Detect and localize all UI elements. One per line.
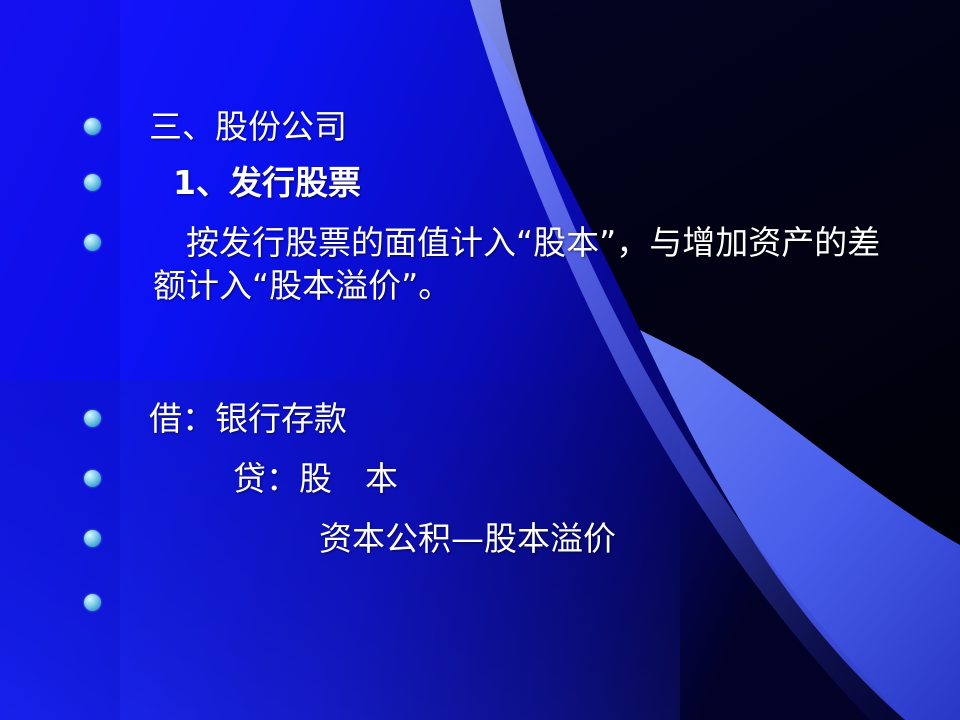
bullet-text-journal-credit-surplus: 资本公积—股本溢价	[319, 518, 616, 561]
bullet-dot-icon	[84, 174, 101, 191]
list-item: 贷：股 本	[84, 458, 904, 501]
bullet-dot-icon	[84, 234, 101, 251]
bullet-text-journal-debit: 借：银行存款	[149, 398, 347, 441]
bullet-text-item-one: 1、发行股票	[173, 162, 361, 205]
bullet-text-explanation: 按发行股票的面值计入“股本”，与增加资产的差额计入“股本溢价”。	[153, 222, 883, 308]
list-item	[84, 582, 904, 611]
list-item: 借：银行存款	[84, 398, 904, 441]
bullet-text-journal-credit-capital: 贷：股 本	[233, 458, 398, 501]
presentation-slide: 三、股份公司 1、发行股票 按发行股票的面值计入“股本”，与增加资产的差额计入“…	[0, 0, 960, 720]
bullet-text-section-heading: 三、股份公司	[149, 106, 347, 149]
bullet-dot-icon	[84, 594, 101, 611]
list-item: 按发行股票的面值计入“股本”，与增加资产的差额计入“股本溢价”。	[84, 222, 920, 308]
bullet-dot-icon	[84, 470, 101, 487]
slide-content: 三、股份公司 1、发行股票 按发行股票的面值计入“股本”，与增加资产的差额计入“…	[0, 0, 960, 720]
bullet-dot-icon	[84, 118, 101, 135]
list-item: 1、发行股票	[84, 162, 904, 205]
bullet-dot-icon	[84, 530, 101, 547]
list-item: 资本公积—股本溢价	[84, 518, 904, 561]
list-item: 三、股份公司	[84, 106, 904, 149]
bullet-dot-icon	[84, 410, 101, 427]
